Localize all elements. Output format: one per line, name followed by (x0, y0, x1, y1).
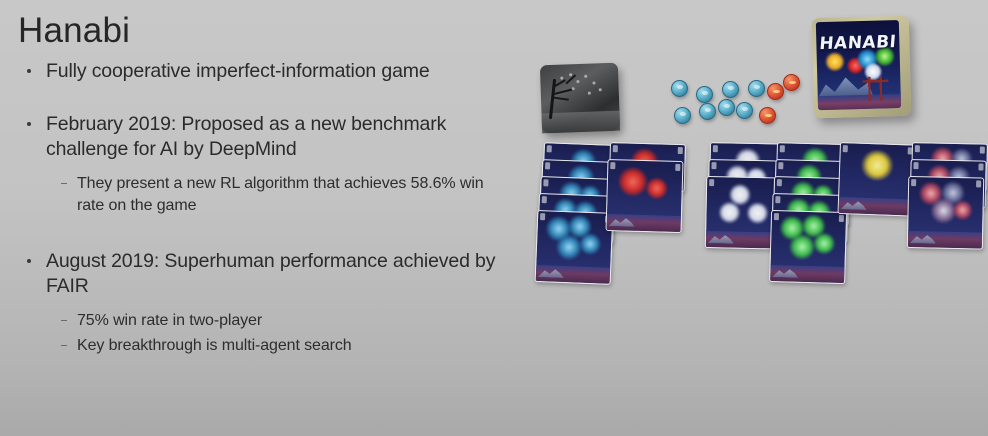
firework-burst-icon (555, 234, 582, 261)
firework-card (535, 210, 614, 285)
dash-bullet-icon (61, 320, 67, 322)
blossom-dot (592, 81, 595, 84)
cover-torii-gate (862, 76, 889, 101)
firework-burst-icon (789, 233, 816, 260)
information-token (674, 107, 691, 124)
dash-bullet-icon (61, 345, 67, 347)
firework-burst-icon (860, 150, 895, 181)
spacer-4 (14, 301, 500, 307)
token-glint (742, 107, 748, 111)
token-glint (728, 86, 734, 90)
firework-card (769, 210, 847, 284)
blossom-dot (599, 88, 602, 91)
token-glint (773, 90, 780, 93)
information-token (718, 99, 735, 116)
information-token (748, 80, 765, 97)
blossom-dot (576, 80, 579, 83)
token-glint (724, 104, 730, 108)
bullet-item-1-text: Fully cooperative imperfect-information … (46, 60, 430, 82)
token-glint (702, 91, 708, 95)
firework-burst-icon (579, 233, 602, 256)
fuse-token (767, 83, 784, 100)
fuse-token (759, 107, 776, 124)
token-glint (680, 112, 686, 116)
information-token (722, 81, 739, 98)
bullet-item-2: February 2019: Proposed as a new benchma… (14, 112, 500, 162)
blossom-dot (560, 77, 563, 80)
token-glint (754, 85, 760, 89)
tree-branch (553, 97, 569, 101)
card-stack-white-label: white firework stack (707, 142, 708, 143)
firework-card (837, 142, 915, 217)
fuse-token (783, 74, 800, 91)
information-token (736, 102, 753, 119)
draw-pile-back (540, 63, 620, 134)
card-stack-red-label: red firework stack (608, 142, 609, 143)
token-glint (677, 85, 683, 89)
token-glint (789, 81, 796, 84)
box-cover-art: HANABI (816, 20, 901, 110)
draw-pile-card (540, 63, 620, 134)
token-glint (705, 108, 711, 112)
spacer-1 (14, 86, 500, 112)
sub-bullet-item-3-text: Key breakthrough is multi-agent search (77, 337, 352, 354)
information-token (696, 86, 713, 103)
card-stack-blue-label: blue firework stack (540, 142, 541, 143)
firework-burst-icon (813, 232, 836, 255)
dot-bullet-icon (27, 122, 31, 126)
dot-bullet-icon (27, 69, 31, 73)
information-token (699, 103, 716, 120)
firework-card (606, 159, 684, 233)
firework-burst-icon (617, 166, 648, 197)
slide-canvas: Hanabi Fully cooperative imperfect-infor… (0, 0, 988, 436)
hanabi-box: HANABI (812, 16, 912, 119)
sub-bullet-item-2-text: 75% win rate in two-player (77, 312, 262, 329)
slide-text-column: Hanabi Fully cooperative imperfect-infor… (0, 0, 500, 436)
sub-bullet-item-3: Key breakthrough is multi-agent search (14, 335, 500, 357)
firework-burst-icon (952, 200, 972, 220)
firework-burst-icon (645, 177, 668, 200)
box-title: HANABI (816, 32, 900, 54)
blossom-dot (572, 87, 575, 90)
sub-bullet-item-2: 75% win rate in two-player (14, 310, 500, 332)
bullet-group-3: August 2019: Superhuman performance achi… (14, 249, 500, 357)
bullet-group-2: February 2019: Proposed as a new benchma… (14, 112, 500, 217)
card-stack-multi-label: rainbow firework stack (909, 142, 910, 143)
blossom-dot (584, 75, 587, 78)
page-title: Hanabi (18, 12, 500, 51)
fuse-tokens-label: fuse tokens (500, 0, 501, 1)
firework-burst-icon (746, 202, 768, 224)
dash-bullet-icon (61, 183, 67, 185)
draw-pile-horizon (542, 111, 621, 134)
bullet-item-3-text: August 2019: Superhuman performance achi… (46, 250, 495, 297)
information-tokens-label: information tokens (500, 0, 501, 1)
bullet-group-1: Fully cooperative imperfect-information … (14, 59, 500, 84)
spacer-2 (14, 164, 500, 170)
information-token (671, 80, 688, 97)
bullet-item-2-text: February 2019: Proposed as a new benchma… (46, 113, 446, 160)
bullet-item-1: Fully cooperative imperfect-information … (14, 59, 500, 84)
sub-bullet-item-1-text: They present a new RL algorithm that ach… (77, 175, 484, 214)
firework-card (907, 176, 984, 250)
firework-burst-icon (718, 201, 740, 223)
sub-bullet-item-1: They present a new RL algorithm that ach… (14, 173, 500, 217)
spacer-3 (14, 219, 500, 249)
hanabi-game-photo: HANABI informat (500, 0, 988, 436)
token-glint (765, 114, 772, 117)
blossom-dot (569, 73, 572, 76)
cover-firework-yellow-icon (825, 51, 846, 72)
dot-bullet-icon (27, 259, 31, 263)
bullet-item-3: August 2019: Superhuman performance achi… (14, 249, 500, 299)
blossom-dot (588, 92, 591, 95)
